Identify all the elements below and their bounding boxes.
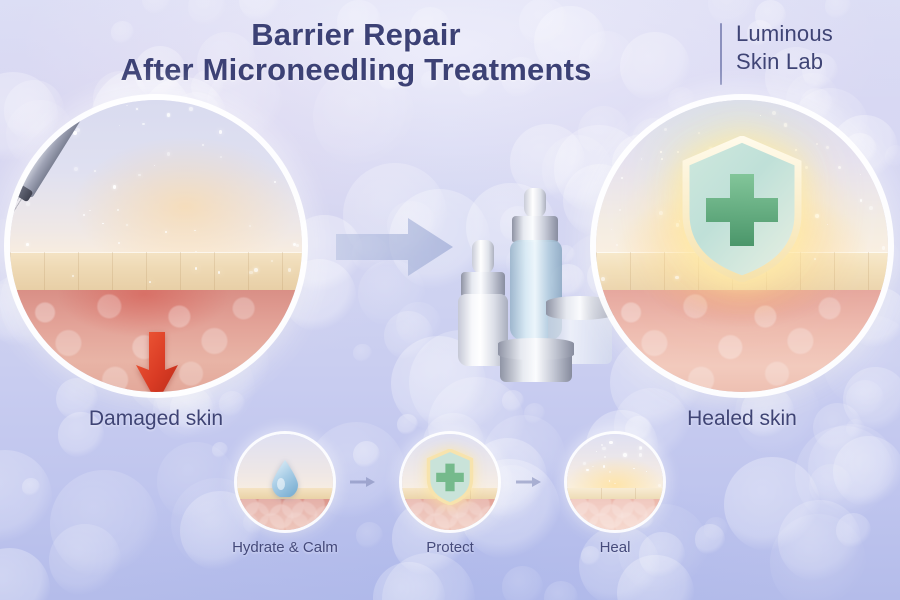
skin-epidermis-layer [10,252,302,290]
water-droplet-icon [270,459,300,497]
caption-damaged-skin: Damaged skin [10,407,302,431]
step-label-heal: Heal [560,539,670,556]
step1-dermis [237,499,333,530]
silver-jar-lid [498,338,574,360]
logo-line-2: Skin Lab [736,48,900,76]
small-right-arrow-icon-2 [516,476,542,488]
right-arrow-icon [336,216,454,278]
logo-line-1: Luminous [736,20,900,48]
step3-air-layer [567,434,663,488]
step-label-hydrate: Hydrate & Calm [230,539,340,556]
step3-epi-texture [567,488,663,500]
panel-healed-skin [596,100,888,392]
step-hydrate-calm[interactable]: Hydrate & Calm [230,434,340,556]
step-label-protect: Protect [395,539,505,556]
panel-damaged-skin [10,100,302,392]
step3-dermis [567,499,663,530]
step-circle-protect [402,434,498,530]
page-title: Barrier Repair After Microneedling Treat… [0,18,712,87]
step-shield-with-cross-icon [426,449,474,505]
red-down-arrow-icon [135,332,179,392]
step1-cells [237,499,333,530]
blue-bottle-cap [512,216,558,242]
step3-cells [567,499,663,530]
step3-epidermis [567,488,663,500]
white-bottle-pipette-bulb [472,240,494,274]
step-circle-hydrate [237,434,333,530]
epidermis-texture [10,252,302,290]
step-protect[interactable]: Protect [395,434,505,556]
title-line-2: After Microneedling Treatments [0,53,712,88]
brand-logo: Luminous Skin Lab [714,20,900,76]
step-circle-heal [567,434,663,530]
blue-bottle-pipette-bulb [524,188,546,218]
infographic-canvas: Barrier Repair After Microneedling Treat… [0,0,900,600]
step-sequence: Hydrate & Calm Protect [230,434,670,580]
shield-with-cross-icon [680,136,804,282]
caption-healed-skin: Healed skin [596,407,888,431]
title-line-1: Barrier Repair [0,18,712,53]
small-right-arrow-icon-1 [350,476,376,488]
step-heal[interactable]: Heal [560,434,670,556]
white-bottle-cap [461,272,505,296]
